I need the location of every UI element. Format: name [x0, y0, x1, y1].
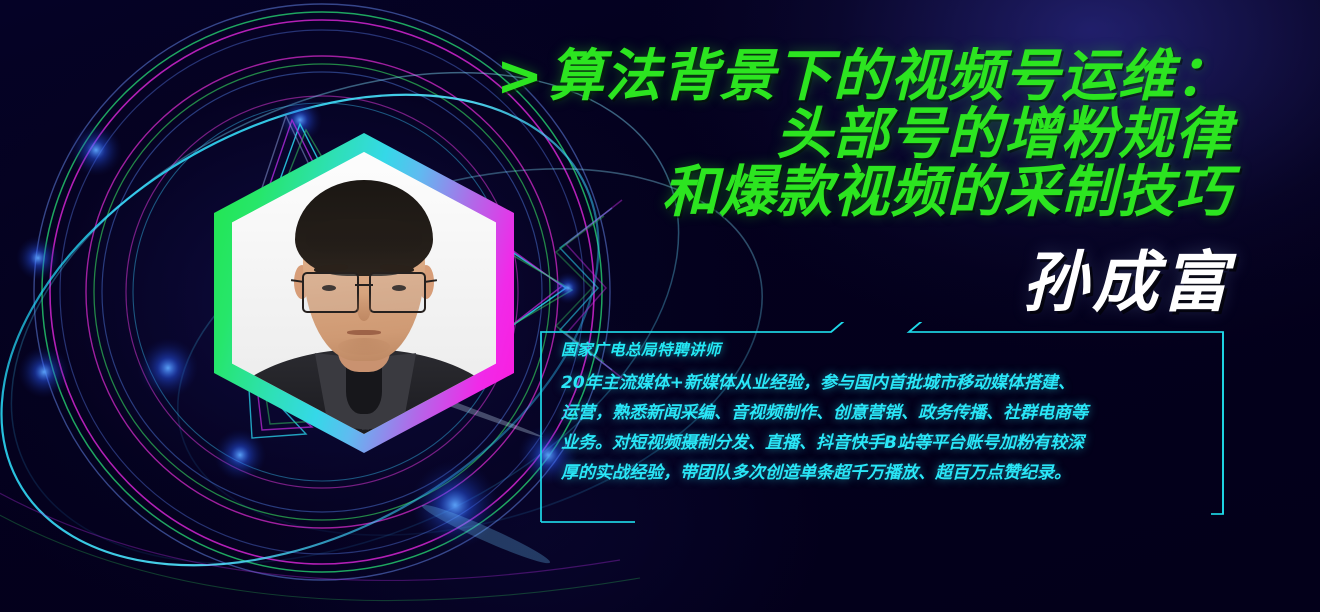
speaker-bio-panel: 国家广电总局特聘讲师 20年主流媒体+新媒体从业经验，参与国内首批城市移动媒体搭…	[539, 322, 1225, 524]
bio-body: 20年主流媒体+新媒体从业经验，参与国内首批城市移动媒体搭建、 运营，熟悉新闻采…	[561, 368, 1217, 488]
title-line-2: 头部号的增粉规律	[472, 106, 1232, 164]
title-line-1: >算法背景下的视频号运维：	[472, 48, 1232, 106]
title-line-1-text: 算法背景下的视频号运维：	[548, 44, 1232, 109]
speaker-portrait	[214, 133, 514, 453]
bio-headline: 国家广电总局特聘讲师	[561, 338, 1217, 360]
chevron-right-icon: >	[496, 44, 544, 109]
bio-line-3: 业务。对短视频摄制分发、直播、抖音快手B站等平台账号加粉有较深	[561, 428, 1217, 458]
speaker-name: 孙成富	[592, 248, 1232, 318]
session-title: >算法背景下的视频号运维： 头部号的增粉规律 和爆款视频的采制技巧	[472, 48, 1232, 222]
title-line-3: 和爆款视频的采制技巧	[472, 164, 1232, 222]
bio-line-1: 20年主流媒体+新媒体从业经验，参与国内首批城市移动媒体搭建、	[561, 368, 1217, 398]
bio-line-2: 运营，熟悉新闻采编、音视频制作、创意营销、政务传播、社群电商等	[561, 398, 1217, 428]
poster-canvas: >算法背景下的视频号运维： 头部号的增粉规律 和爆款视频的采制技巧 孙成富 国家…	[0, 0, 1320, 612]
speaker-name-text: 孙成富	[592, 248, 1232, 318]
bio-line-4: 厚的实战经验，带团队多次创造单条超千万播放、超百万点赞纪录。	[561, 458, 1217, 488]
